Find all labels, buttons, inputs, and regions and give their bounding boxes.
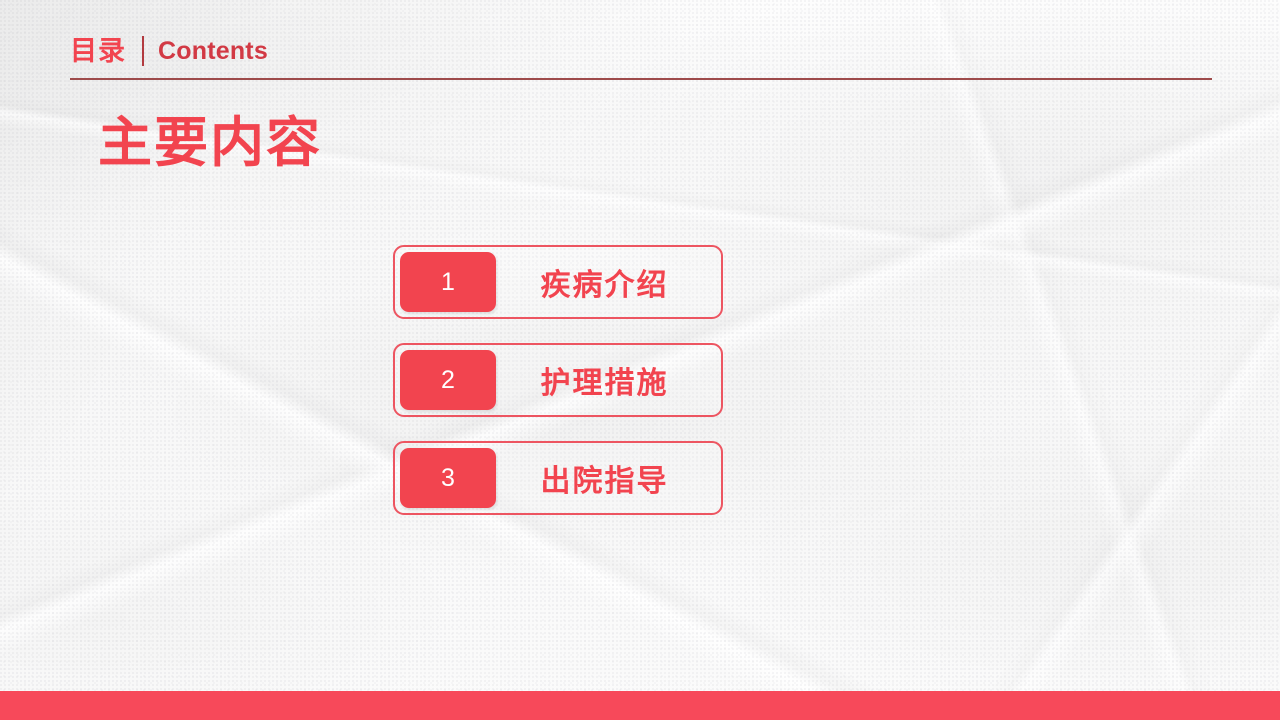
slide-canvas: 目录 Contents 主要内容 1 疾病介绍 2 护理措施 3 出院指导 xyxy=(0,0,1280,720)
list-item[interactable]: 1 疾病介绍 xyxy=(393,245,723,319)
contents-list: 1 疾病介绍 2 护理措施 3 出院指导 xyxy=(393,245,723,539)
footer-accent-bar xyxy=(0,691,1280,720)
list-item[interactable]: 3 出院指导 xyxy=(393,441,723,515)
list-item-number-badge: 3 xyxy=(400,448,496,508)
list-item-number-badge: 2 xyxy=(400,350,496,410)
header-horizontal-rule xyxy=(70,78,1212,80)
list-item[interactable]: 2 护理措施 xyxy=(393,343,723,417)
list-item-number-badge: 1 xyxy=(400,252,496,312)
slide-header: 目录 Contents xyxy=(70,30,268,72)
list-item-label: 出院指导 xyxy=(496,456,721,500)
header-label-cn: 目录 xyxy=(70,38,126,65)
header-label-en: Contents xyxy=(158,39,268,64)
header-divider-icon xyxy=(142,36,144,66)
list-item-label: 护理措施 xyxy=(496,358,721,402)
list-item-label: 疾病介绍 xyxy=(496,260,721,304)
page-title: 主要内容 xyxy=(98,114,322,173)
